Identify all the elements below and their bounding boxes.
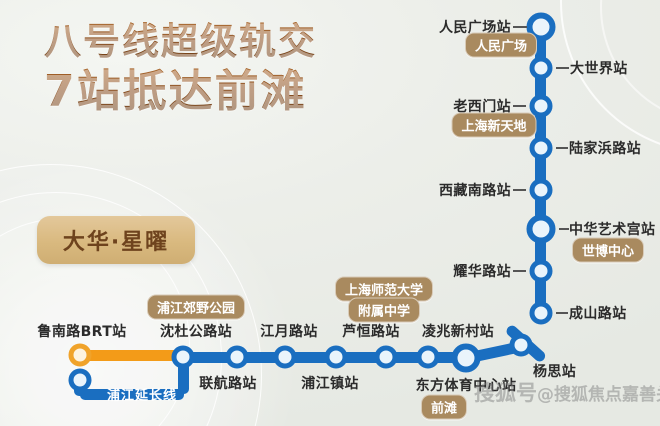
- watermark: 搜狐号@搜狐焦点嘉善关注: [474, 377, 660, 407]
- station-dot-xizang-nan-lu[interactable]: [530, 179, 553, 202]
- metro-line-infographic: 八号线超级轨交 7站抵达前滩 大华·星曜 人民广场站 人民广场 大世界站 老西门…: [0, 0, 660, 426]
- station-dot-dongfang-tiyu-zhongxin[interactable]: [452, 344, 481, 373]
- station-dot-zhonghua-yishugong[interactable]: [527, 215, 556, 244]
- station-tick-lujiabang-lu: [556, 147, 568, 149]
- station-label-chengshan-lu: 成山路站: [569, 303, 627, 323]
- station-dot-shendu-gonglu[interactable]: [172, 346, 195, 369]
- station-tick-yaohua-lu: [513, 270, 526, 272]
- station-dot-lingzhao-xincun[interactable]: [417, 346, 440, 369]
- station-dot-lianhang-lu[interactable]: [274, 346, 297, 369]
- station-label-pujiang-zhen: 浦江镇站: [301, 373, 359, 393]
- station-label-lujiabang-lu: 陆家浜路站: [569, 138, 641, 158]
- station-label-zhonghua-yishugong: 中华艺术宫站: [569, 219, 655, 239]
- station-tick-dashijie: [556, 67, 569, 69]
- station-dot-yangsi[interactable]: [510, 334, 533, 357]
- station-dot-chengshan-lu[interactable]: [530, 302, 553, 325]
- poi-tag-qiantan: 前滩: [421, 395, 467, 420]
- station-label-yaohua-lu: 耀华路站: [453, 261, 511, 281]
- station-tick-renmin-guangchang: [513, 26, 527, 28]
- station-dot-dashijie[interactable]: [530, 57, 553, 80]
- station-dot-pujiang-zhen[interactable]: [325, 346, 348, 369]
- project-name-badge: 大华·星曜: [37, 216, 195, 264]
- station-dot-lujiabang-lu[interactable]: [530, 137, 553, 160]
- watermark-main: 搜狐号: [474, 381, 537, 405]
- station-label-jiangyue-lu: 江月路站: [260, 321, 318, 341]
- station-label-lingzhao-xincun: 凌兆新村站: [422, 321, 494, 341]
- station-dot-branch-terminal[interactable]: [69, 369, 92, 392]
- headline-line-1: 八号线超级轨交: [44, 22, 317, 62]
- poi-tag-shibo-zhongxin: 世博中心: [572, 238, 644, 263]
- project-name-label: 大华·星曜: [63, 224, 169, 256]
- station-label-shendu-gonglu: 沈杜公路站: [160, 321, 232, 341]
- headline: 八号线超级轨交 7站抵达前滩: [44, 22, 317, 115]
- station-label-xizang-nan-lu: 西藏南路站: [439, 180, 511, 200]
- poi-tag-fushu-zhongxue: 附属中学: [348, 298, 420, 323]
- branch-line-label: 浦江延长线: [107, 385, 177, 404]
- station-tick-chengshan-lu: [556, 312, 568, 314]
- station-label-lianhang-lu: 联航路站: [199, 373, 257, 393]
- station-tick-xizang-nan-lu: [513, 189, 526, 191]
- poi-tag-xintiandi: 上海新天地: [451, 113, 536, 138]
- station-tick-laoximen: [513, 105, 526, 107]
- watermark-sub: @搜狐焦点嘉善关注: [537, 385, 660, 405]
- station-dot-jiangyue-lu[interactable]: [226, 346, 249, 369]
- station-label-dashijie: 大世界站: [570, 58, 628, 78]
- station-dot-lunan-lu-brt[interactable]: [69, 344, 92, 367]
- station-dot-yaohua-lu[interactable]: [530, 260, 553, 283]
- headline-line-2: 7站抵达前滩: [44, 68, 317, 116]
- poi-tag-renmin-guangchang: 人民广场: [465, 33, 537, 58]
- station-label-luheng-lu: 芦恒路站: [342, 321, 400, 341]
- poi-tag-pujiang-jiaoye-gongyuan: 浦江郊野公园: [147, 295, 245, 320]
- station-dot-luheng-lu[interactable]: [375, 346, 398, 369]
- station-label-lunan-lu-brt: 鲁南路BRT站: [37, 321, 126, 341]
- station-tick-zhonghua-yishugong: [559, 228, 569, 230]
